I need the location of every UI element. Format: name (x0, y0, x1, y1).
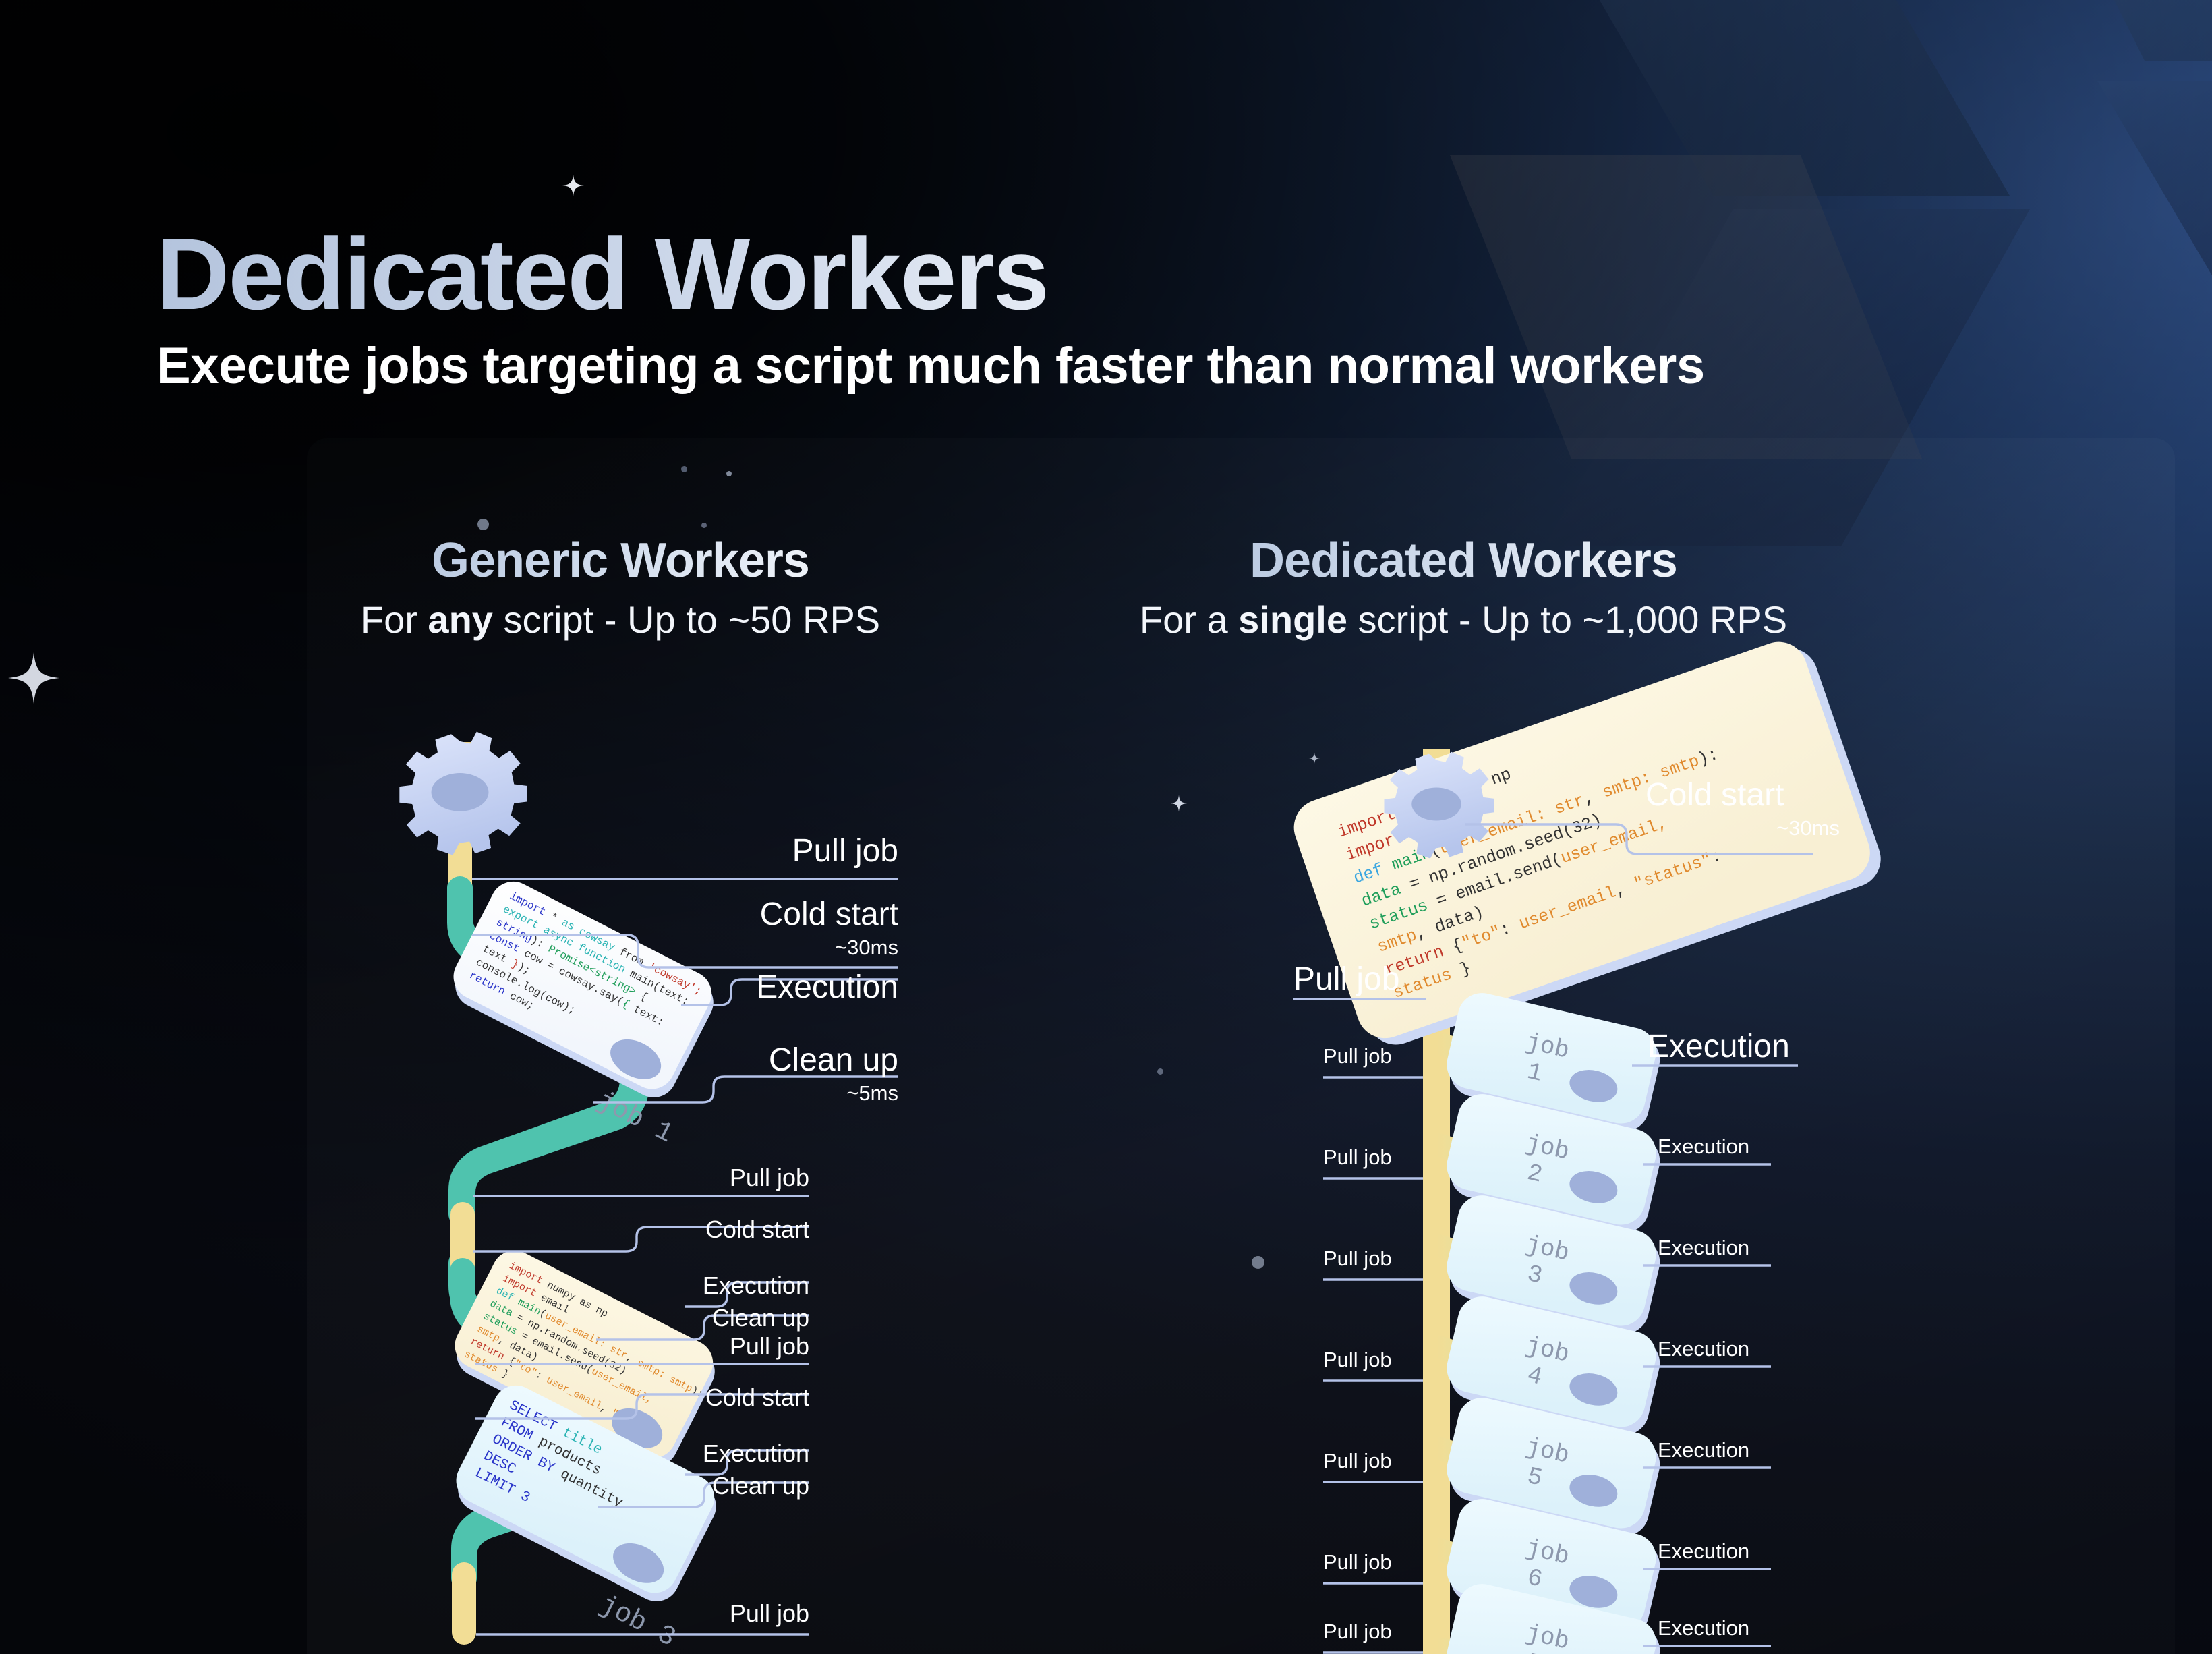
label-cold-start: Cold start (607, 1386, 809, 1410)
label-execution: Execution (607, 1274, 809, 1298)
column-header-dedicated: Dedicated Workers For a single script - … (1055, 533, 1871, 641)
label-pull-job: Pull job (1323, 1551, 1498, 1572)
label-execution: Execution (1658, 1541, 1860, 1562)
sparkle-icon (562, 174, 585, 197)
label-cold-start: Cold start ~30ms (629, 899, 898, 961)
label-clean-up: Clean up ~5ms (629, 1044, 898, 1107)
label-clean-up: Clean up (607, 1306, 809, 1330)
label-execution: Execution (1658, 1618, 1860, 1638)
sparkle-icon (7, 651, 61, 705)
column-title-dedicated: Dedicated Workers (1055, 533, 1871, 588)
label-pull-job: Pull job (607, 1601, 809, 1626)
label-pull-job: Pull job (629, 835, 898, 867)
label-cold-start: Cold start (607, 1218, 809, 1242)
label-pull-job: Pull job (1323, 1046, 1498, 1066)
label-pull-job: Pull job (607, 1334, 809, 1359)
column-subtitle-generic: For any script - Up to ~50 RPS (256, 598, 985, 641)
column-title-generic: Generic Workers (256, 533, 985, 588)
label-execution: Execution (1658, 1439, 1860, 1460)
label-pull-job: Pull job (1293, 963, 1496, 996)
label-cold-start: Cold start ~30ms (1646, 779, 1929, 842)
label-execution: Execution (1658, 1136, 1860, 1157)
label-pull-job: Pull job (1323, 1147, 1498, 1168)
label-execution: Execution (1648, 1031, 1863, 1063)
label-pull-job: Pull job (1323, 1248, 1498, 1269)
label-pull-job: Pull job (1323, 1349, 1498, 1370)
label-execution: Execution (1658, 1338, 1860, 1359)
column-subtitle-dedicated: For a single script - Up to ~1,000 RPS (1055, 598, 1871, 641)
page-title: Dedicated Workers (156, 223, 1977, 326)
column-header-generic: Generic Workers For any script - Up to ~… (256, 533, 985, 641)
label-pull-job: Pull job (1323, 1450, 1498, 1471)
label-execution: Execution (629, 971, 898, 1004)
page-subtitle: Execute jobs targeting a script much fas… (156, 337, 1977, 395)
label-clean-up: Clean up (607, 1474, 809, 1498)
label-pull-job: Pull job (607, 1166, 809, 1190)
label-pull-job: Pull job (1323, 1621, 1498, 1642)
header: Dedicated Workers Execute jobs targeting… (156, 223, 1977, 395)
label-execution: Execution (607, 1442, 809, 1466)
label-execution: Execution (1658, 1237, 1860, 1258)
